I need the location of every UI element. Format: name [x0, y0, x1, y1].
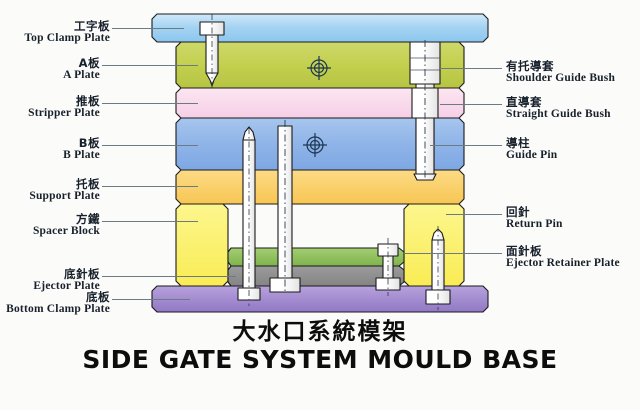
label-guide-pin-cn: 導柱 — [506, 137, 557, 149]
leader-ejector-plate — [102, 276, 236, 277]
leader-support-plate — [102, 186, 198, 187]
label-shoulder-guide-bush-en: Shoulder Guide Bush — [506, 72, 615, 84]
title-chinese: 大水口系統模架 — [0, 312, 640, 346]
leader-bottom-clamp-plate — [112, 299, 190, 300]
label-b-plate: B板 B Plate — [63, 137, 100, 161]
label-top-clamp-plate-en: Top Clamp Plate — [24, 32, 110, 44]
label-a-plate: A板 A Plate — [63, 57, 100, 81]
label-straight-guide-bush: 直導套 Straight Guide Bush — [506, 96, 611, 120]
label-ejector-plate-cn: 底針板 — [33, 268, 100, 280]
label-ejector-retainer-plate-cn: 面針板 — [506, 245, 620, 257]
leader-return-pin — [446, 214, 502, 215]
label-shoulder-guide-bush: 有托導套 Shoulder Guide Bush — [506, 60, 615, 84]
label-straight-guide-bush-en: Straight Guide Bush — [506, 108, 611, 120]
label-a-plate-en: A Plate — [63, 69, 100, 81]
leader-straight-guide-bush — [440, 104, 502, 105]
label-shoulder-guide-bush-cn: 有托導套 — [506, 60, 615, 72]
label-return-pin: 回針 Return Pin — [506, 206, 563, 230]
label-stripper-plate: 推板 Stripper Plate — [28, 95, 100, 119]
leader-stripper-plate — [102, 103, 198, 104]
label-a-plate-cn: A板 — [63, 57, 100, 69]
label-b-plate-cn: B板 — [63, 137, 100, 149]
label-top-clamp-plate: 工字板 Top Clamp Plate — [24, 20, 110, 44]
label-straight-guide-bush-cn: 直導套 — [506, 96, 611, 108]
leader-spacer-block — [102, 221, 198, 222]
label-stripper-plate-en: Stripper Plate — [28, 107, 100, 119]
label-top-clamp-plate-cn: 工字板 — [24, 20, 110, 32]
label-ejector-retainer-plate-en: Ejector Retainer Plate — [506, 257, 620, 269]
label-stripper-plate-cn: 推板 — [28, 95, 100, 107]
title-english: SIDE GATE SYSTEM MOULD BASE — [0, 345, 640, 374]
label-ejector-retainer-plate: 面針板 Ejector Retainer Plate — [506, 245, 620, 269]
label-ejector-plate: 底針板 Ejector Plate — [33, 268, 100, 292]
label-b-plate-en: B Plate — [63, 149, 100, 161]
leader-ejector-retainer-plate — [404, 253, 502, 254]
label-return-pin-cn: 回針 — [506, 206, 563, 218]
leader-guide-pin — [430, 145, 502, 146]
label-support-plate-cn: 托板 — [29, 178, 100, 190]
component-shoulder-guide-bush — [410, 42, 440, 84]
label-spacer-block-cn: 方鐵 — [33, 213, 100, 225]
leader-shoulder-guide-bush — [440, 68, 502, 69]
label-spacer-block: 方鐵 Spacer Block — [33, 213, 100, 237]
label-return-pin-en: Return Pin — [506, 218, 563, 230]
label-guide-pin-en: Guide Pin — [506, 149, 557, 161]
label-bottom-clamp-plate-cn: 底板 — [6, 291, 110, 303]
leader-top-clamp-plate — [112, 28, 184, 29]
label-spacer-block-en: Spacer Block — [33, 225, 100, 237]
leader-a-plate — [102, 65, 198, 66]
leader-b-plate — [102, 145, 198, 146]
plate-spacer-block-left — [176, 204, 228, 286]
component-cap-screw-top-shank — [206, 35, 218, 73]
label-support-plate: 托板 Support Plate — [29, 178, 100, 202]
label-support-plate-en: Support Plate — [29, 190, 100, 202]
label-guide-pin: 導柱 Guide Pin — [506, 137, 557, 161]
